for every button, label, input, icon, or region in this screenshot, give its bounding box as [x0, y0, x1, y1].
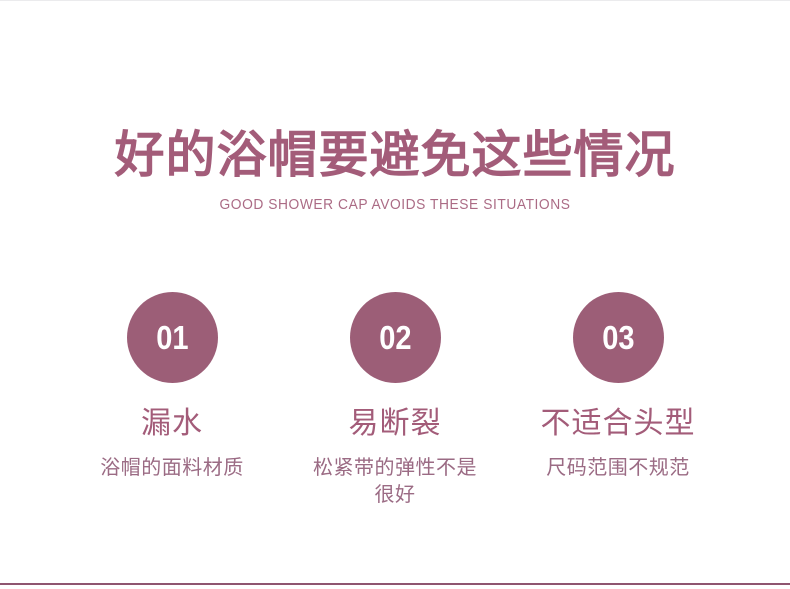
page-title: 好的浴帽要避免这些情况: [0, 125, 790, 185]
number-badge-01: 01: [127, 292, 218, 383]
issue-title-02: 易断裂: [349, 407, 442, 441]
top-hairline-divider: [0, 0, 790, 1]
issue-title-01: 漏水: [141, 407, 203, 441]
issue-title-03: 不适合头型: [541, 407, 696, 441]
issue-item-02: 02 易断裂 松紧带的弹性不是很好: [284, 292, 507, 509]
issue-list: 01 漏水 浴帽的面料材质 02 易断裂 松紧带的弹性不是很好 03 不适合头型…: [0, 292, 790, 509]
issue-description-01: 浴帽的面料材质: [100, 455, 244, 482]
issue-description-02: 松紧带的弹性不是很好: [310, 455, 480, 509]
promo-banner: 好的浴帽要避免这些情况 GOOD SHOWER CAP AVOIDS THESE…: [0, 0, 790, 589]
bottom-divider: [0, 583, 790, 585]
page-subtitle: GOOD SHOWER CAP AVOIDS THESE SITUATIONS: [32, 196, 759, 214]
heading-block: 好的浴帽要避免这些情况 GOOD SHOWER CAP AVOIDS THESE…: [0, 125, 790, 214]
issue-item-03: 03 不适合头型 尺码范围不规范: [507, 292, 730, 482]
number-badge-03: 03: [573, 292, 664, 383]
badge-number-label: 02: [379, 321, 411, 354]
issue-item-01: 01 漏水 浴帽的面料材质: [61, 292, 284, 482]
number-badge-02: 02: [350, 292, 441, 383]
issue-description-03: 尺码范围不规范: [546, 455, 690, 482]
badge-number-label: 03: [602, 321, 634, 354]
badge-number-label: 01: [156, 321, 188, 354]
